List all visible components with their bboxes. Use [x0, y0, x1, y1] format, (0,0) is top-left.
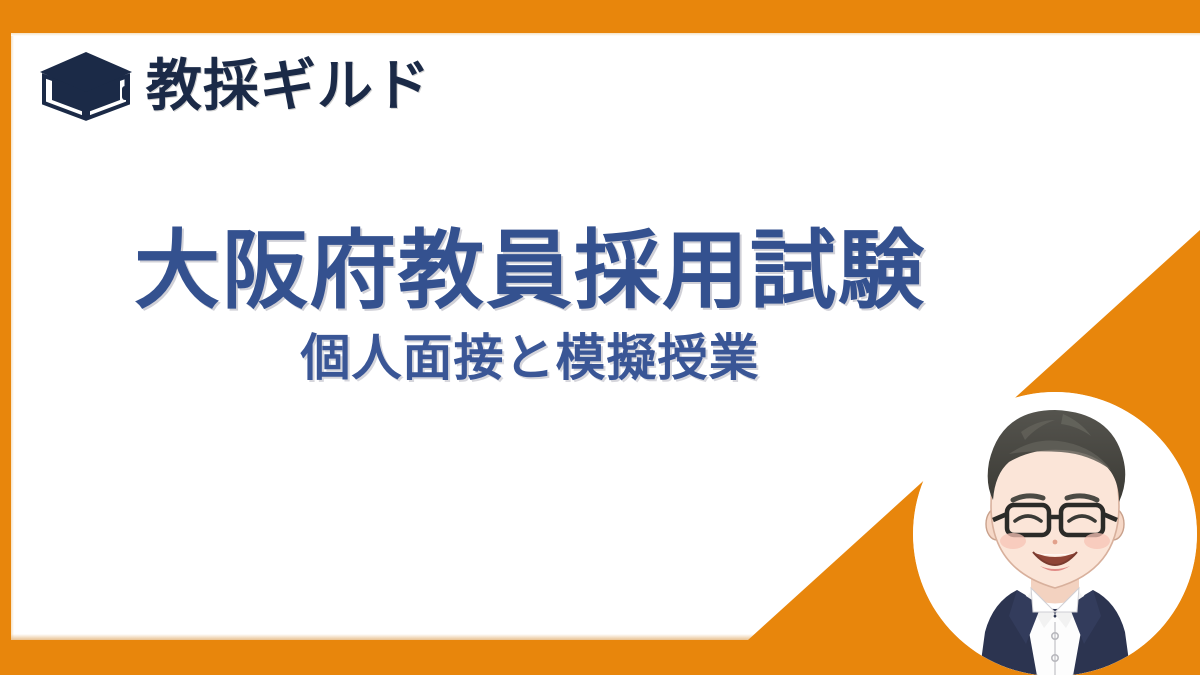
panel-edge-bottom: [11, 634, 791, 640]
brand-logo-text: 教採ギルド: [146, 58, 431, 114]
slide-canvas: 教採ギルド 大阪府教員採用試験 個人面接と模擬授業: [0, 0, 1200, 675]
panel-edge-top: [11, 33, 1200, 36]
avatar: [913, 392, 1197, 675]
brand-logo[interactable]: 教採ギルド: [38, 48, 431, 124]
panel-edge-left: [11, 33, 14, 640]
graduation-cap-book-icon: [38, 48, 134, 124]
presenter-avatar-illustration: [913, 392, 1197, 675]
